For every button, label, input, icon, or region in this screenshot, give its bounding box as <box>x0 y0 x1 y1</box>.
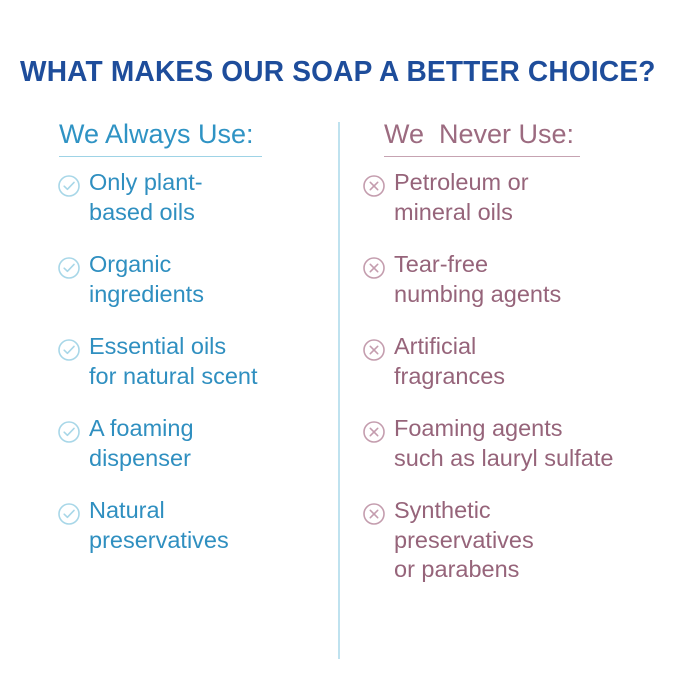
list-item-label: A foaming dispenser <box>89 414 194 473</box>
list-item-label: Foaming agents such as lauryl sulfate <box>394 414 613 473</box>
column-always-use-header: We Always Use: <box>59 118 262 157</box>
check-circle-icon <box>57 420 81 444</box>
never-use-list: Petroleum or mineral oils Tear-free numb… <box>362 168 662 608</box>
list-item-label: Synthetic preservatives or parabens <box>394 496 534 585</box>
comparison-columns: We Always Use: Only plant- based oils <box>0 118 679 663</box>
list-item-label: Organic ingredients <box>89 250 204 309</box>
list-item: Foaming agents such as lauryl sulfate <box>362 414 662 473</box>
list-item: Artificial fragrances <box>362 332 662 391</box>
column-never-use-header: We Never Use: <box>384 118 580 157</box>
column-always-use: We Always Use: Only plant- based oils <box>57 118 327 157</box>
x-circle-icon <box>362 174 386 198</box>
column-divider <box>338 122 340 659</box>
list-item: Synthetic preservatives or parabens <box>362 496 662 585</box>
check-circle-icon <box>57 338 81 362</box>
check-circle-icon <box>57 174 81 198</box>
list-item-label: Essential oils for natural scent <box>89 332 258 391</box>
infographic-poster: WHAT MAKES OUR SOAP A BETTER CHOICE? We … <box>0 0 679 679</box>
x-circle-icon <box>362 502 386 526</box>
list-item-label: Only plant- based oils <box>89 168 203 227</box>
list-item: Essential oils for natural scent <box>57 332 327 391</box>
x-circle-icon <box>362 420 386 444</box>
x-circle-icon <box>362 338 386 362</box>
check-circle-icon <box>57 502 81 526</box>
list-item: A foaming dispenser <box>57 414 327 473</box>
list-item-label: Natural preservatives <box>89 496 229 555</box>
list-item: Tear-free numbing agents <box>362 250 662 309</box>
list-item: Petroleum or mineral oils <box>362 168 662 227</box>
list-item-label: Artificial fragrances <box>394 332 505 391</box>
check-circle-icon <box>57 256 81 280</box>
list-item: Organic ingredients <box>57 250 327 309</box>
always-use-list: Only plant- based oils Organic ingredien… <box>57 168 327 578</box>
list-item: Natural preservatives <box>57 496 327 555</box>
list-item-label: Petroleum or mineral oils <box>394 168 529 227</box>
page-title: WHAT MAKES OUR SOAP A BETTER CHOICE? <box>20 55 650 89</box>
x-circle-icon <box>362 256 386 280</box>
list-item: Only plant- based oils <box>57 168 327 227</box>
column-never-use: We Never Use: Petroleum or mineral oils <box>362 118 662 157</box>
list-item-label: Tear-free numbing agents <box>394 250 561 309</box>
